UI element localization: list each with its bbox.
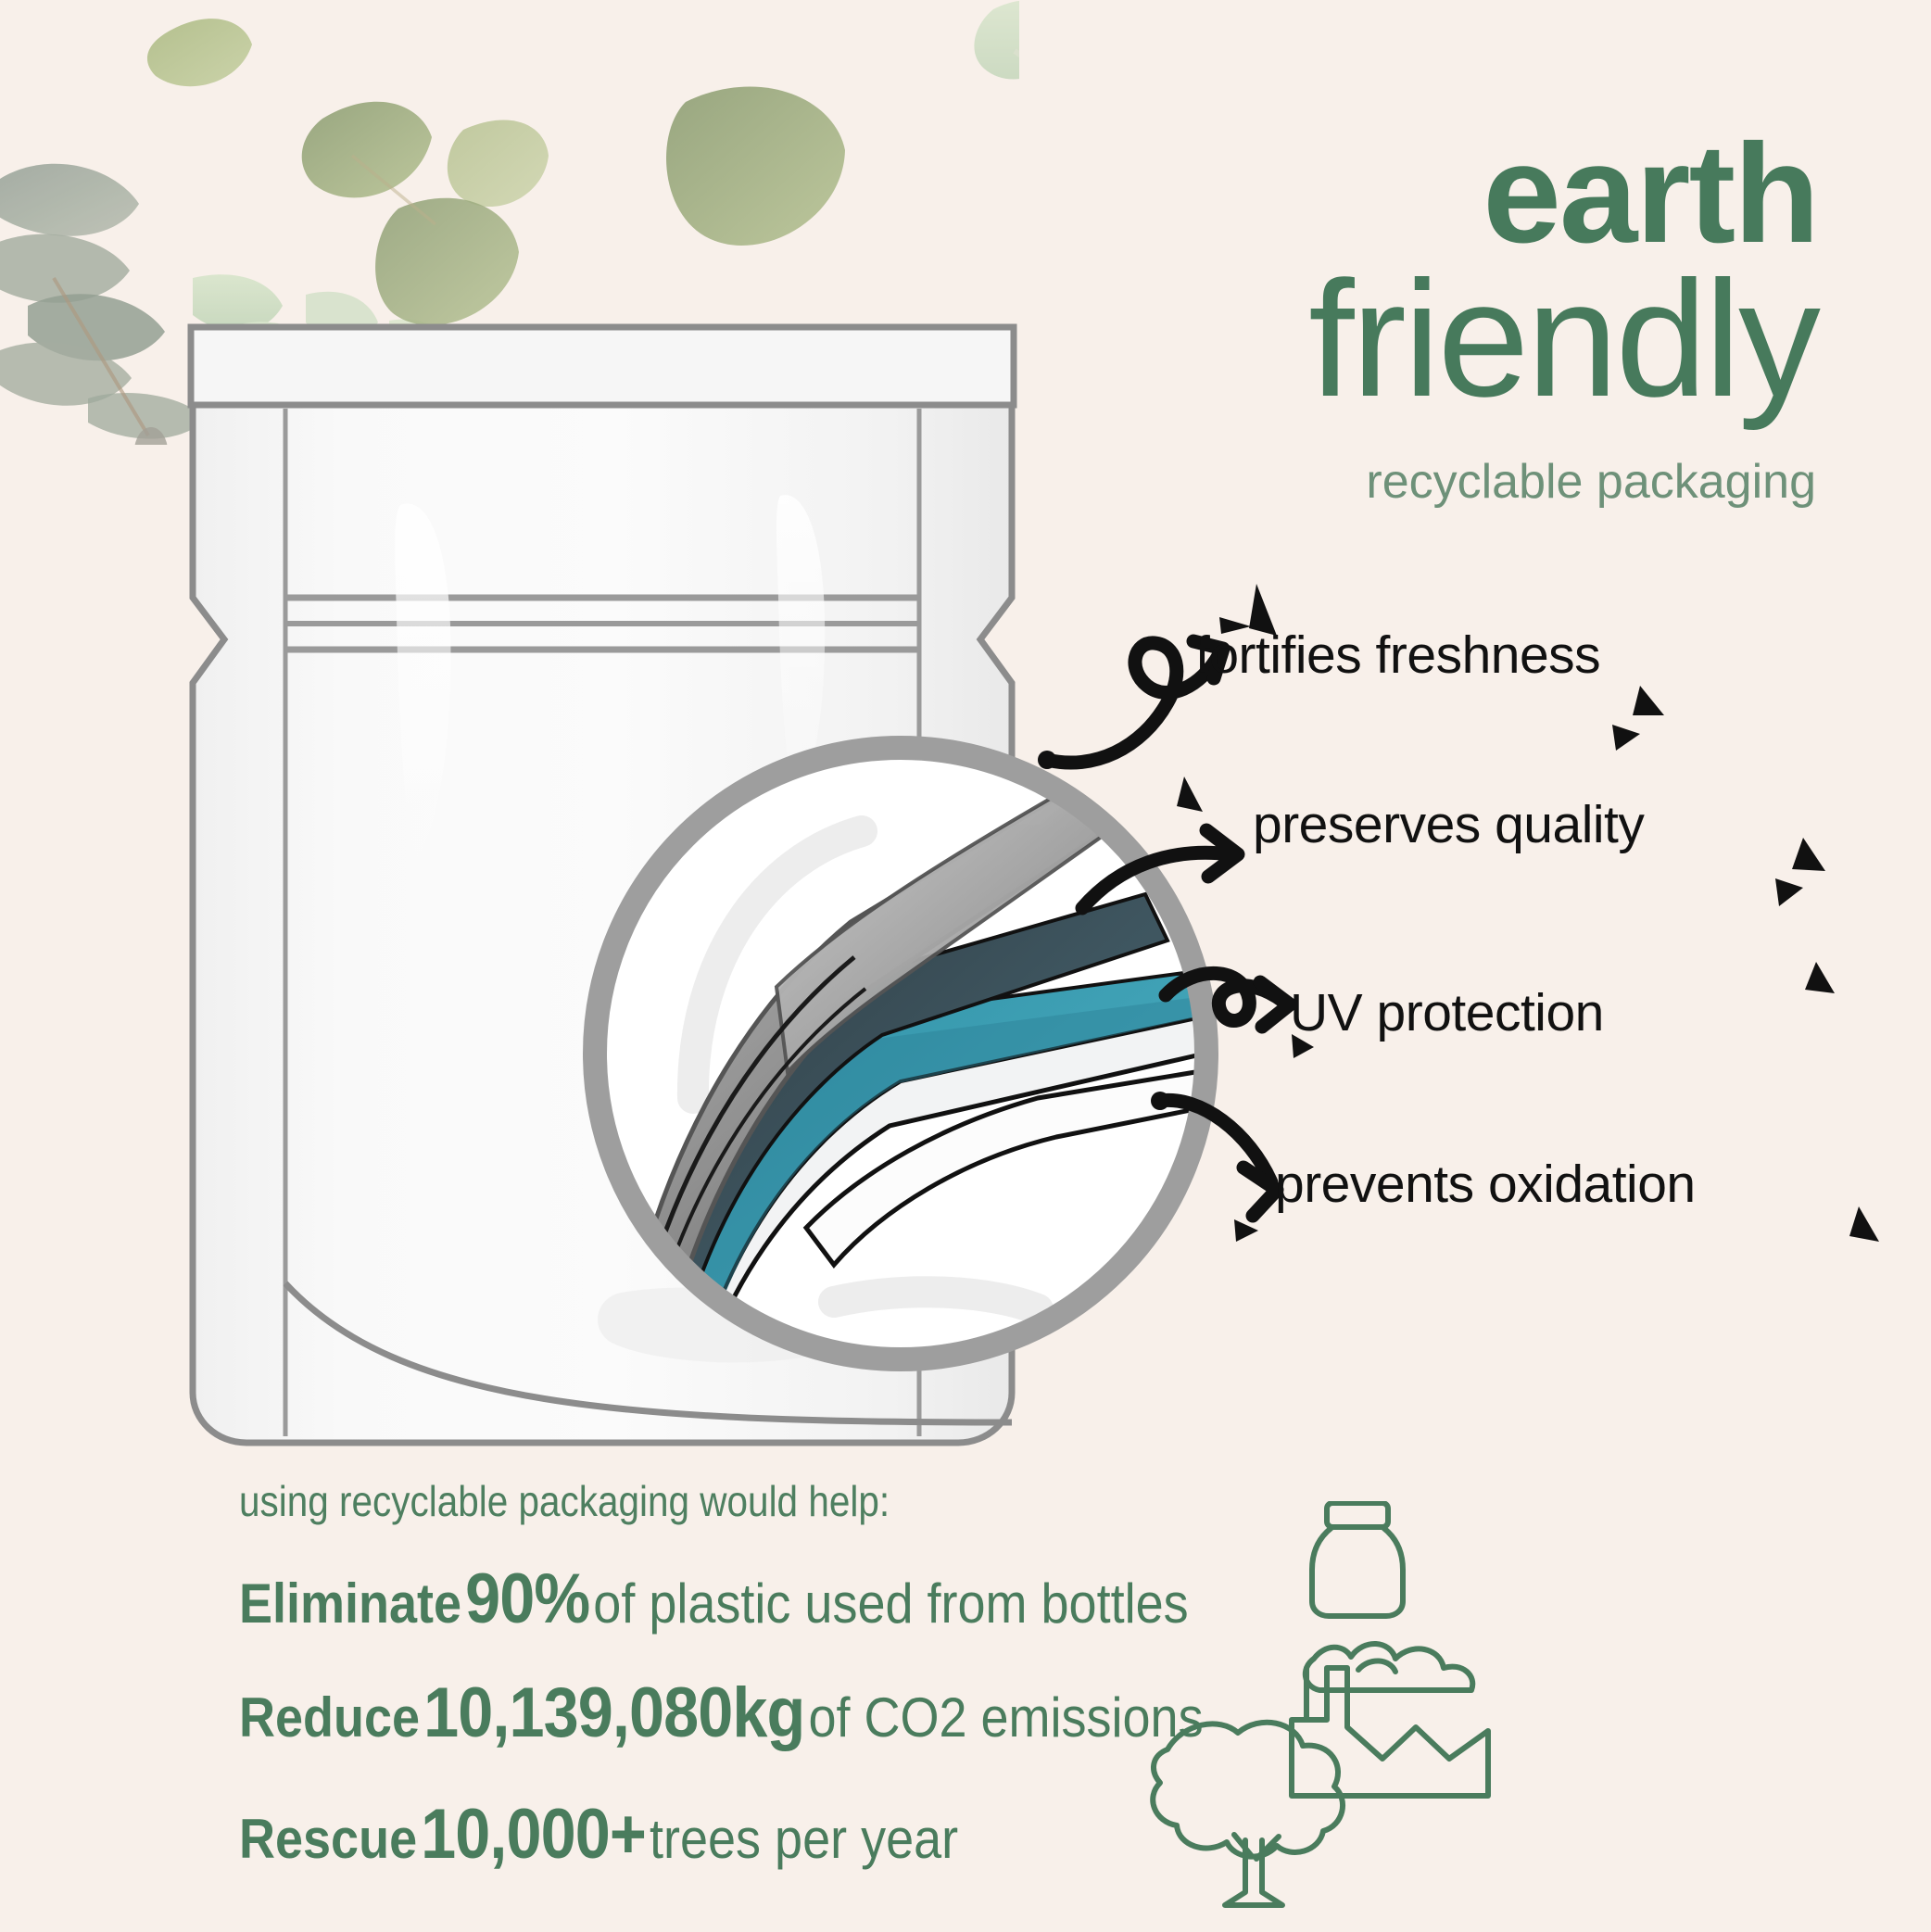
sparkle-icon — [1751, 954, 1853, 1038]
stat-tail: trees per year — [650, 1808, 958, 1870]
sparkle-icon — [1798, 1195, 1899, 1288]
infographic-canvas: earth friendly recyclable packaging — [0, 0, 1931, 1932]
sparkle-icon — [1733, 825, 1844, 927]
curly-arrow-icon — [1075, 769, 1279, 917]
stat-row: Eliminate 90% of plastic used from bottl… — [239, 1559, 1189, 1639]
stat-verb: Reduce — [239, 1686, 420, 1749]
factory-icon — [1292, 1644, 1488, 1796]
stat-value: 90% — [465, 1559, 589, 1638]
stat-row: Rescue 10,000+ trees per year — [239, 1794, 958, 1875]
stat-value: 10,000+ — [421, 1795, 646, 1874]
stat-verb: Rescue — [239, 1808, 417, 1870]
stat-value: 10,139,080kg — [423, 1673, 804, 1752]
feature-label-preserves-quality: preserves quality — [1253, 794, 1644, 855]
feature-label-uv-protection: UV protection — [1290, 982, 1604, 1043]
sparkle-icon — [1575, 676, 1686, 778]
bottle-icon — [1312, 1503, 1403, 1616]
headline-subtitle: recyclable packaging — [890, 454, 1816, 510]
page-title: earth friendly — [891, 130, 1818, 415]
leaf-cluster-left — [0, 164, 206, 445]
headline-line-1: earth — [891, 130, 1818, 259]
eco-icon-group — [1066, 1501, 1492, 1909]
stats-intro: using recyclable packaging would help: — [239, 1476, 890, 1526]
stat-verb: Eliminate — [239, 1572, 461, 1635]
tree-icon — [1153, 1723, 1343, 1905]
headline-line-2: friendly — [891, 263, 1818, 415]
leaf-group-olive — [147, 19, 1019, 325]
stat-row: Reduce 10,139,080kg of CO2 emissions — [239, 1673, 1204, 1753]
feature-label-prevents-oxidation: prevents oxidation — [1275, 1154, 1696, 1215]
feature-label-fortifies-freshness: fortifies freshness — [1195, 625, 1600, 686]
